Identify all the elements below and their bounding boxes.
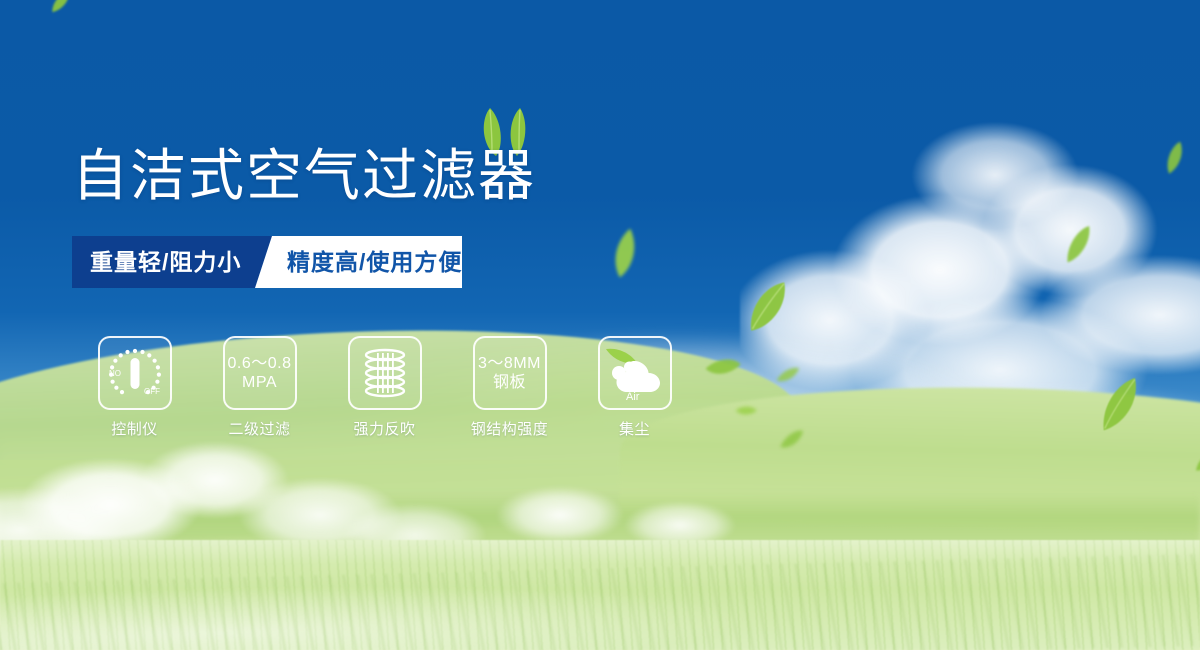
feature-box-dust-collection: Air [598, 336, 672, 410]
feature-box-control-unit: NO OFF [98, 336, 172, 410]
dial-on-label: NO [109, 369, 121, 378]
page-title: 自洁式空气过滤器 [72, 146, 536, 208]
feature-item-two-stage-filter[interactable]: 0.6〜0.8 MPA 二级过滤 [197, 336, 322, 439]
feature-box-two-stage-filter: 0.6〜0.8 MPA [223, 336, 297, 410]
feature-item-steel-strength[interactable]: 3〜8MM 钢板 钢结构强度 [447, 336, 572, 439]
dial-gauge-icon: NO OFF [104, 342, 166, 404]
pressure-unit: MPA [228, 373, 292, 392]
dial-off-label: OFF [144, 387, 160, 396]
product-banner: 自洁式空气过滤器 重量轻/阻力小 精度高/使用方便 [0, 0, 1200, 650]
feature-item-control-unit[interactable]: NO OFF 控制仪 [72, 336, 197, 439]
feature-box-strong-blowback [348, 336, 422, 410]
air-label: Air [626, 391, 640, 403]
steel-thickness: 3〜8MM [478, 354, 541, 373]
pressure-text-icon: 0.6〜0.8 MPA [228, 354, 292, 392]
subtitle-left-panel: 重量轻/阻力小 [72, 236, 272, 288]
feature-label-two-stage-filter: 二级过滤 [228, 421, 290, 439]
feature-item-dust-collection[interactable]: Air 集尘 [572, 336, 697, 439]
feature-label-control-unit: 控制仪 [111, 421, 158, 439]
feature-label-dust-collection: 集尘 [619, 421, 650, 439]
filter-coil-icon [357, 345, 413, 401]
feature-list: NO OFF 控制仪 0.6〜0.8 MPA 二级过滤 [72, 336, 697, 439]
subtitle-right-text: 精度高/使用方便 [287, 247, 462, 277]
feature-label-strong-blowback: 强力反吹 [353, 421, 415, 439]
steel-plate-text-icon: 3〜8MM 钢板 [478, 354, 541, 392]
steel-material: 钢板 [478, 373, 541, 392]
subtitle-right-panel: 精度高/使用方便 [255, 236, 462, 288]
feature-label-steel-strength: 钢结构强度 [471, 421, 549, 439]
cloud-air-icon: Air [604, 343, 666, 403]
pressure-value: 0.6〜0.8 [228, 354, 292, 373]
subtitle-left-text: 重量轻/阻力小 [90, 247, 241, 277]
feature-box-steel-strength: 3〜8MM 钢板 [473, 336, 547, 410]
feature-item-strong-blowback[interactable]: 强力反吹 [322, 336, 447, 439]
subtitle-band: 重量轻/阻力小 精度高/使用方便 [72, 236, 462, 288]
